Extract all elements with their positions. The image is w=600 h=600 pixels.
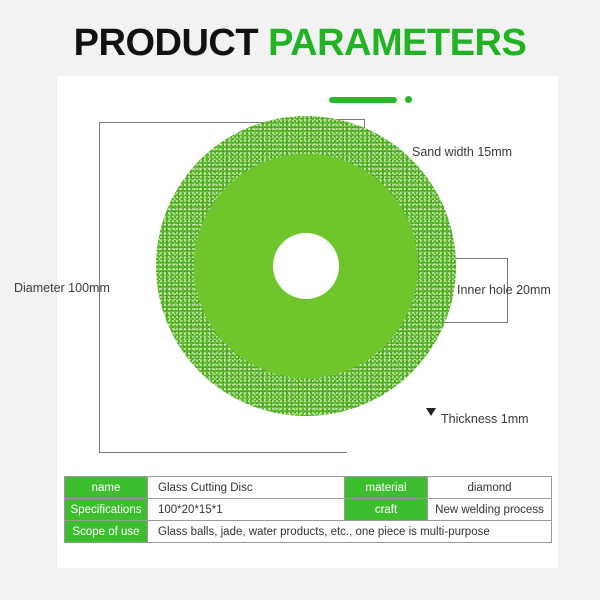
page-title: PRODUCT PARAMETERS (0, 22, 600, 65)
cell-value-specifications: 100*20*15*1 (148, 499, 345, 521)
diameter-bracket-bottom (99, 452, 347, 453)
cell-value-material: diamond (428, 477, 552, 499)
cell-key-scope-of-use: Scope of use (65, 521, 148, 543)
page-title-product: PRODUCT (74, 22, 258, 64)
cell-value-name: Glass Cutting Disc (148, 477, 345, 499)
cell-key-name: name (65, 477, 148, 499)
page-title-parameters: PARAMETERS (268, 22, 526, 64)
cell-key-craft: craft (345, 499, 428, 521)
cutting-disc-graphic (156, 116, 456, 416)
cell-value-craft: New welding process (428, 499, 552, 521)
table-row: name Glass Cutting Disc material diamond (65, 477, 552, 499)
table-row: Scope of use Glass balls, jade, water pr… (65, 521, 552, 543)
annotation-diameter: Diameter 100mm (14, 281, 110, 295)
thickness-arrow-icon (426, 408, 436, 416)
disc-inner-hole (273, 233, 339, 299)
annotation-inner-hole: Inner hole 20mm (457, 283, 551, 297)
specifications-table: name Glass Cutting Disc material diamond… (64, 476, 552, 543)
cell-key-material: material (345, 477, 428, 499)
cell-value-scope-of-use: Glass balls, jade, water products, etc.,… (148, 521, 552, 543)
annotation-sand-width: Sand width 15mm (412, 145, 512, 159)
product-diagram: Sand width 15mm Diameter 100mm Inner hol… (57, 76, 558, 476)
cell-key-specifications: Specifications (65, 499, 148, 521)
annotation-thickness: Thickness 1mm (441, 412, 529, 426)
table-row: Specifications 100*20*15*1 craft New wel… (65, 499, 552, 521)
